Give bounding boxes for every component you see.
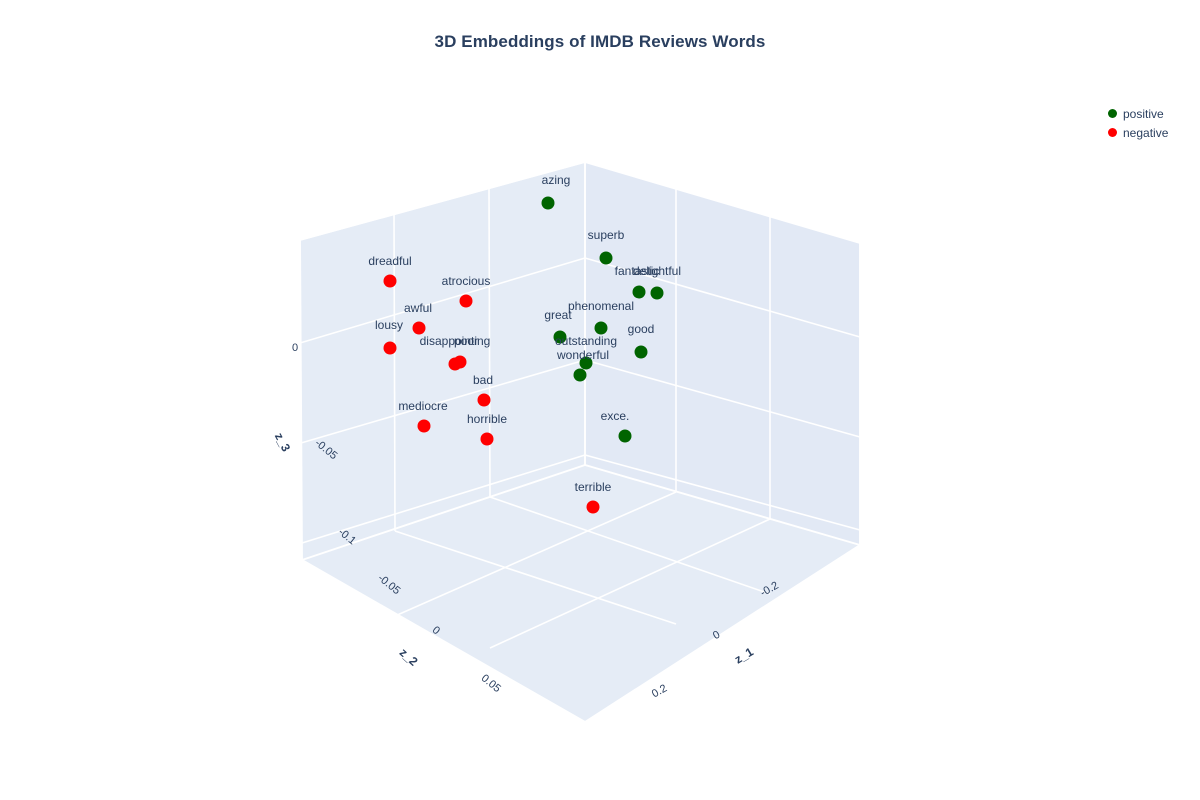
data-point-marker[interactable] <box>651 287 664 300</box>
data-point-label: awful <box>404 301 432 315</box>
data-point-marker[interactable] <box>384 275 397 288</box>
data-point-label: bad <box>473 373 493 387</box>
scatter3d-scene[interactable]: 0 -0.05 -0.1 -0.05 0 0.05 -0.2 0 0.2 z_3… <box>0 0 1200 800</box>
data-point-marker[interactable] <box>574 369 587 382</box>
data-point-label: exce. <box>601 409 630 423</box>
data-point-label: mediocre <box>398 399 448 413</box>
axis-title-z: z_3 <box>272 430 294 454</box>
data-point-marker[interactable] <box>454 356 467 369</box>
axis-title-y: z_2 <box>397 645 421 669</box>
legend-label-positive: positive <box>1123 107 1164 121</box>
data-point-marker[interactable] <box>619 430 632 443</box>
data-point-marker[interactable] <box>600 252 613 265</box>
scene-walls <box>300 162 860 722</box>
x-tick: 0.2 <box>650 682 669 700</box>
legend-item-positive[interactable]: positive <box>1108 106 1168 121</box>
z-tick: 0 <box>292 342 298 354</box>
data-point-label: dreadful <box>368 254 411 268</box>
data-point-marker[interactable] <box>413 322 426 335</box>
data-point-label: atrocious <box>442 274 491 288</box>
data-point-marker[interactable] <box>635 346 648 359</box>
data-point-label: azing <box>542 173 571 187</box>
data-point-marker[interactable] <box>595 322 608 335</box>
data-point-label: delightful <box>633 264 681 278</box>
data-point-marker[interactable] <box>460 295 473 308</box>
data-point-label: wonderful <box>556 348 609 362</box>
data-point-label: poor <box>454 334 478 348</box>
data-point-marker[interactable] <box>633 286 646 299</box>
legend-marker-negative <box>1108 128 1117 137</box>
data-point-label: great <box>544 308 572 322</box>
data-point-marker[interactable] <box>384 342 397 355</box>
data-point-label: good <box>628 322 655 336</box>
axis-title-x: z_1 <box>732 644 756 666</box>
data-point-label: horrible <box>467 412 507 426</box>
data-point-label: lousy <box>375 318 403 332</box>
data-point-label: superb <box>588 228 625 242</box>
legend-label-negative: negative <box>1123 126 1168 140</box>
data-point-label: phenomenal <box>568 299 634 313</box>
data-point-label: terrible <box>575 480 612 494</box>
data-point-marker[interactable] <box>542 197 555 210</box>
data-point-marker[interactable] <box>418 420 431 433</box>
y-tick: 0.05 <box>479 672 503 695</box>
data-point-marker[interactable] <box>481 433 494 446</box>
data-point-marker[interactable] <box>478 394 491 407</box>
data-point-label: outstanding <box>555 334 617 348</box>
legend-marker-positive <box>1108 109 1117 118</box>
plot-root: 3D Embeddings of IMDB Reviews Words <box>0 0 1200 800</box>
data-point-marker[interactable] <box>587 501 600 514</box>
legend-item-negative[interactable]: negative <box>1108 125 1168 140</box>
legend[interactable]: positive negative <box>1108 106 1168 140</box>
